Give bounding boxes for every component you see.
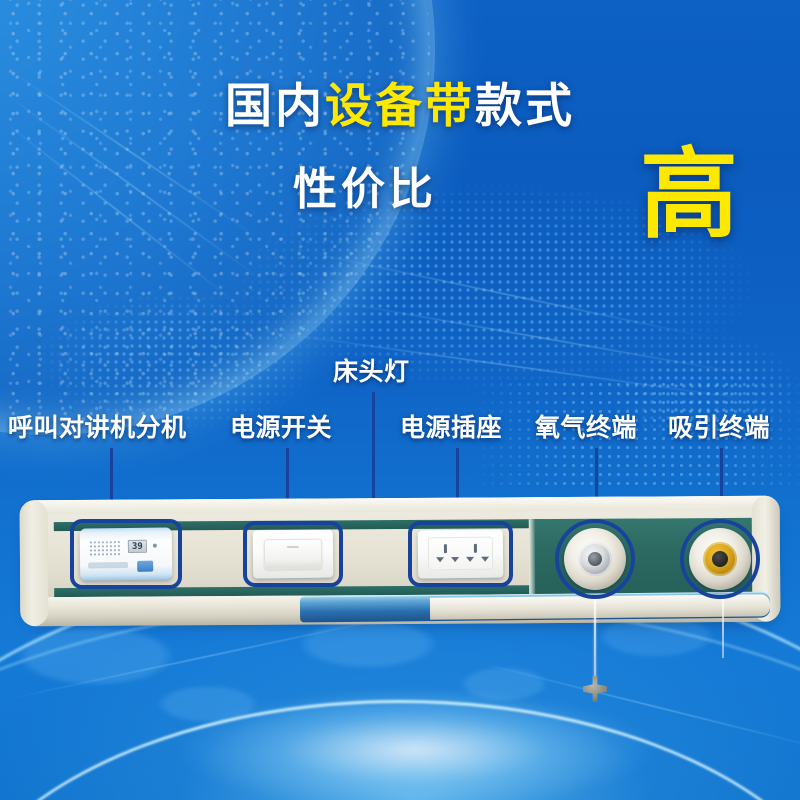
callout-bed-lamp-label: 床头灯 [333,360,410,385]
headline: 国内设备带款式 [0,82,800,129]
callout-power-outlet-label: 电源插座 [400,416,502,441]
highlight-box-intercom [70,519,182,589]
panel-top-edge [20,496,780,515]
highlight-box-power-switch [243,521,343,587]
subheadline-text: 性价比 [293,165,437,214]
callout-oxygen-terminal-label: 氧气终端 [535,416,637,441]
headline-part-3: 款式 [475,79,575,132]
highlight-ring-oxygen [555,519,635,599]
oxygen-probe-cord [594,596,596,682]
panel-end-cap-left [20,500,49,626]
horizon-glow [180,690,650,800]
poster-canvas: 国内设备带款式 性价比 高 呼叫对讲机分机 电源开关 床头灯 电源插座 氧气终端… [0,0,800,800]
highlight-ring-suction [680,519,760,599]
headline-part-1: 国内 [225,79,325,132]
highlight-box-power-outlet [408,521,513,587]
big-accent-char: 高 [640,145,738,243]
callout-suction-terminal-label: 吸引终端 [668,416,770,441]
callout-intercom-label: 呼叫对讲机分机 [8,416,187,441]
headline-part-2-highlight: 设备带 [325,79,475,132]
suction-probe-cord [722,596,724,658]
callout-power-switch-label: 电源开关 [230,416,332,441]
